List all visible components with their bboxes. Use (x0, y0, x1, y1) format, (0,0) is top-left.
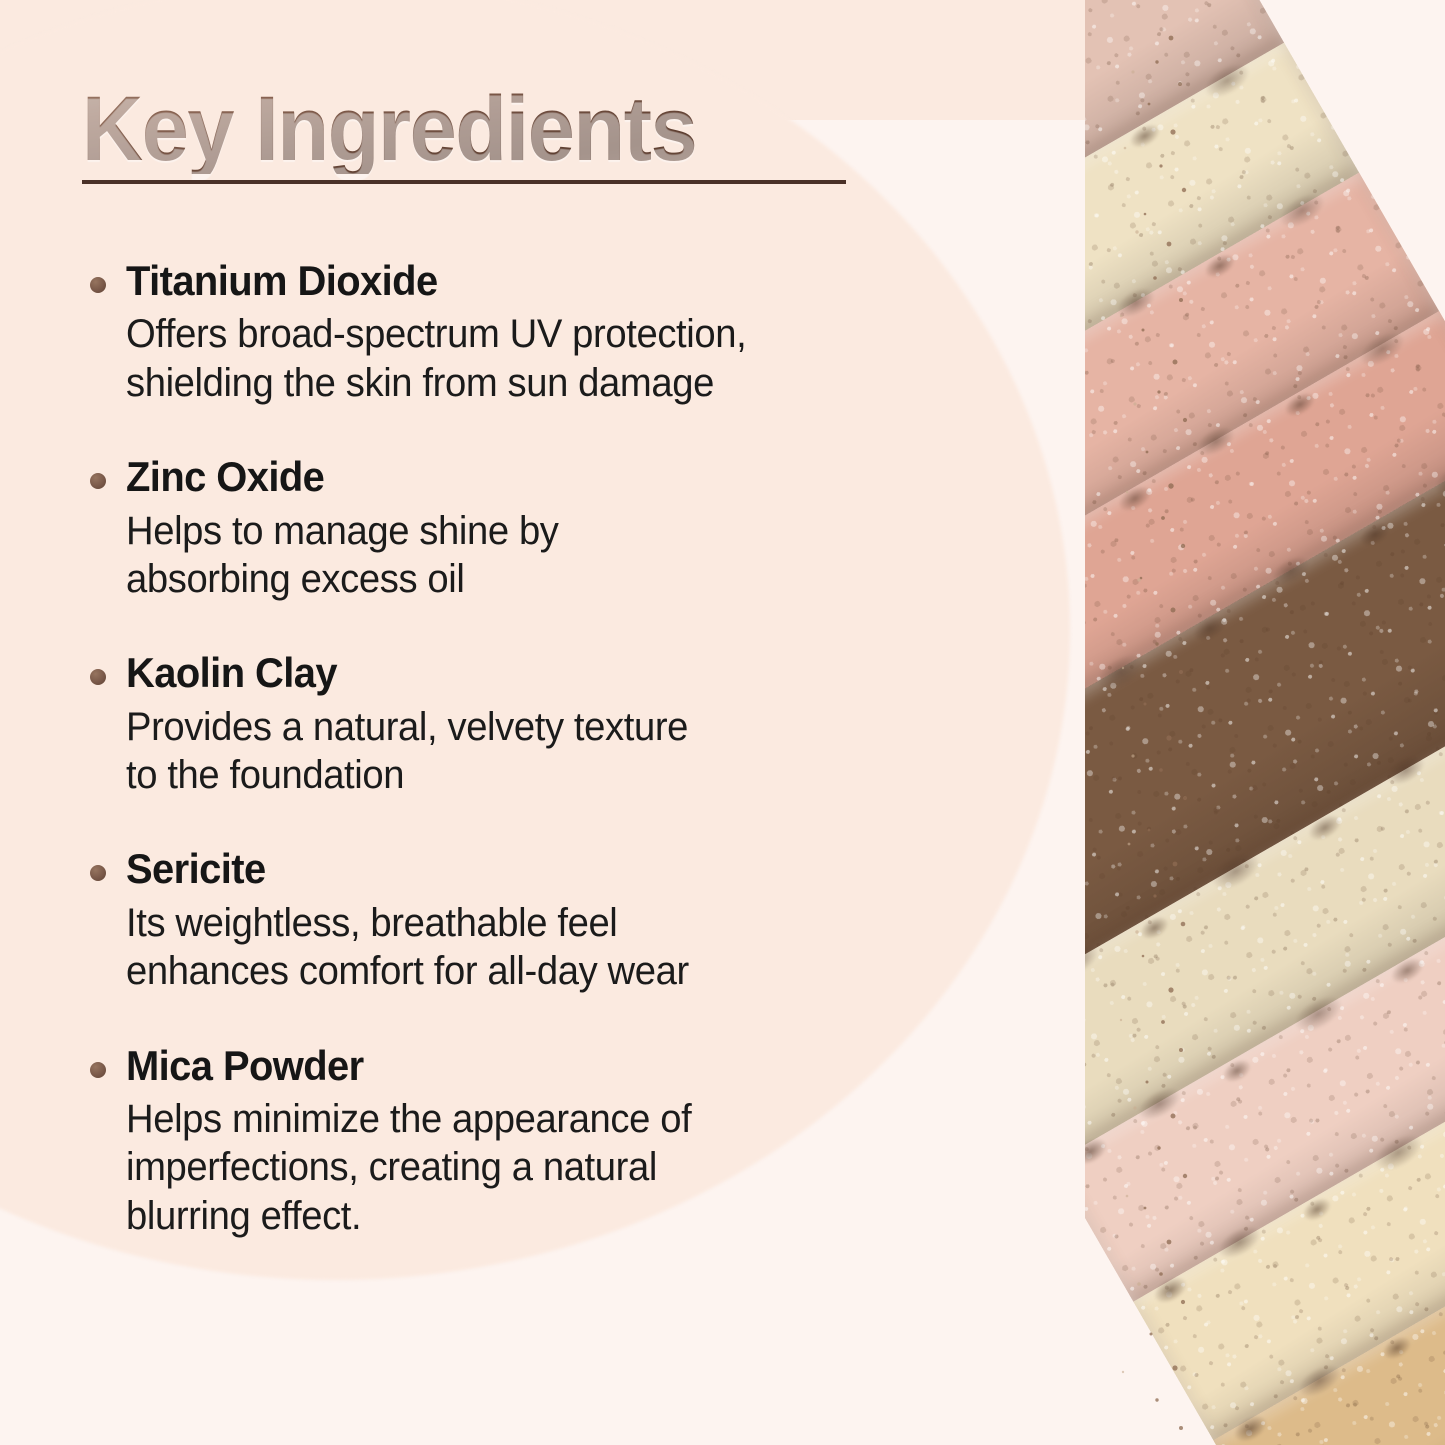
bullet-dot-icon (90, 865, 106, 881)
list-item: Mica PowderHelps minimize the appearance… (82, 1043, 962, 1241)
key-ingredients-infographic: Key Ingredients Titanium DioxideOffers b… (0, 0, 1445, 1445)
page-title-underline (82, 180, 846, 184)
powder-swatch-bands (1085, 0, 1445, 1445)
ingredient-name: Kaolin Clay (126, 650, 920, 695)
list-item: SericiteIts weightless, breathable feel … (82, 846, 962, 995)
bullet-dot-icon (90, 277, 106, 293)
ingredient-description: Its weightless, breathable feel enhances… (126, 899, 924, 996)
ingredient-description: Helps to manage shine by absorbing exces… (126, 507, 924, 604)
ingredient-description: Provides a natural, velvety texture to t… (126, 703, 924, 800)
ingredient-description: Offers broad-spectrum UV protection, shi… (126, 310, 924, 407)
ingredient-description: Helps minimize the appearance of imperfe… (126, 1095, 924, 1240)
ingredient-name: Titanium Dioxide (126, 258, 920, 303)
powder-swatch-image (1085, 0, 1445, 1445)
list-item: Zinc OxideHelps to manage shine by absor… (82, 454, 962, 603)
ingredient-name: Mica Powder (126, 1043, 920, 1088)
page-title: Key Ingredients (82, 84, 809, 174)
bullet-dot-icon (90, 473, 106, 489)
ingredient-name: Sericite (126, 846, 920, 891)
list-item: Titanium DioxideOffers broad-spectrum UV… (82, 258, 962, 407)
page-title-block: Key Ingredients (82, 84, 872, 174)
list-item: Kaolin ClayProvides a natural, velvety t… (82, 650, 962, 799)
bullet-dot-icon (90, 1062, 106, 1078)
ingredient-list: Titanium DioxideOffers broad-spectrum UV… (82, 258, 962, 1240)
bullet-dot-icon (90, 669, 106, 685)
ingredient-name: Zinc Oxide (126, 454, 920, 499)
